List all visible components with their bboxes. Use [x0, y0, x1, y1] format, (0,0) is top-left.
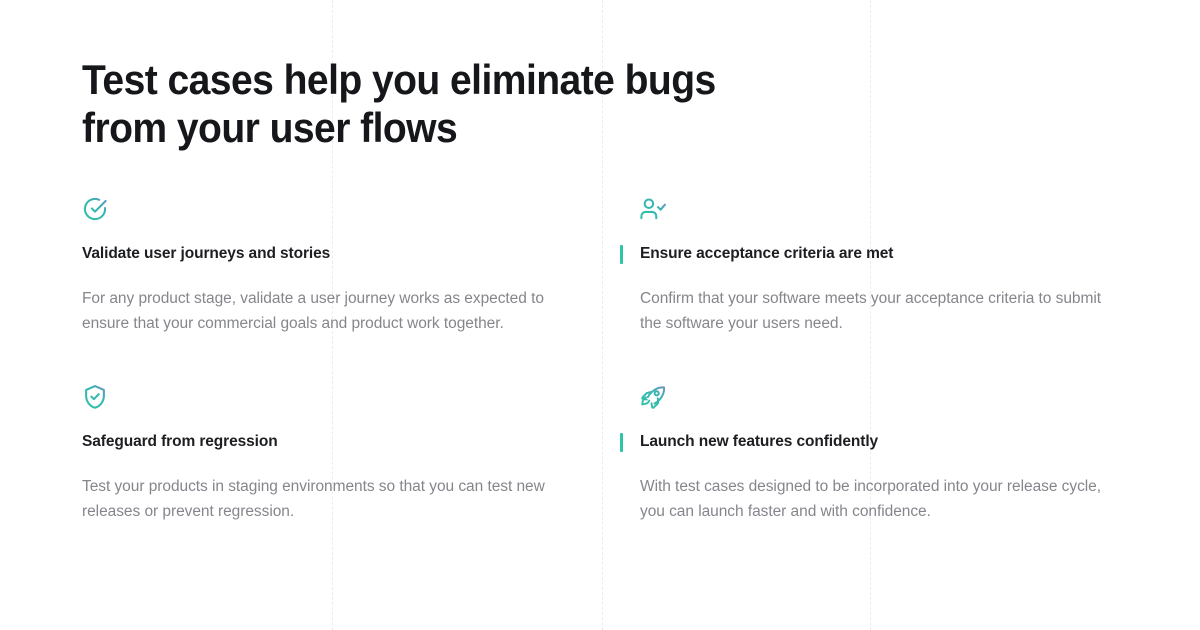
feature-title-row: Launch new features confidently: [640, 432, 1122, 452]
accent-bar: [620, 245, 623, 264]
page-title: Test cases help you eliminate bugs from …: [82, 56, 807, 152]
feature-section: Test cases help you eliminate bugs from …: [0, 0, 1200, 630]
feature-title: Ensure acceptance criteria are met: [640, 244, 893, 264]
feature-card-validate-user-journeys: Validate user journeys and stories For a…: [82, 196, 620, 336]
feature-title-row: Validate user journeys and stories: [82, 244, 584, 264]
feature-description: With test cases designed to be incorpora…: [640, 474, 1122, 524]
feature-title-row: Safeguard from regression: [82, 432, 584, 452]
circle-check-icon: [82, 196, 108, 222]
shield-check-icon: [82, 384, 108, 410]
feature-title: Safeguard from regression: [82, 432, 278, 452]
feature-card-safeguard-regression: Safeguard from regression Test your prod…: [82, 384, 620, 524]
user-check-icon: [640, 196, 666, 222]
accent-bar: [620, 433, 623, 452]
feature-description: For any product stage, validate a user j…: [82, 286, 582, 336]
feature-title: Launch new features confidently: [640, 432, 878, 452]
feature-grid: Validate user journeys and stories For a…: [82, 196, 1130, 524]
feature-title: Validate user journeys and stories: [82, 244, 330, 264]
feature-description: Confirm that your software meets your ac…: [640, 286, 1122, 336]
feature-title-row: Ensure acceptance criteria are met: [640, 244, 1122, 264]
feature-card-launch-features: Launch new features confidently With tes…: [620, 384, 1158, 524]
feature-description: Test your products in staging environmen…: [82, 474, 582, 524]
rocket-icon: [640, 384, 666, 410]
feature-card-acceptance-criteria: Ensure acceptance criteria are met Confi…: [620, 196, 1158, 336]
